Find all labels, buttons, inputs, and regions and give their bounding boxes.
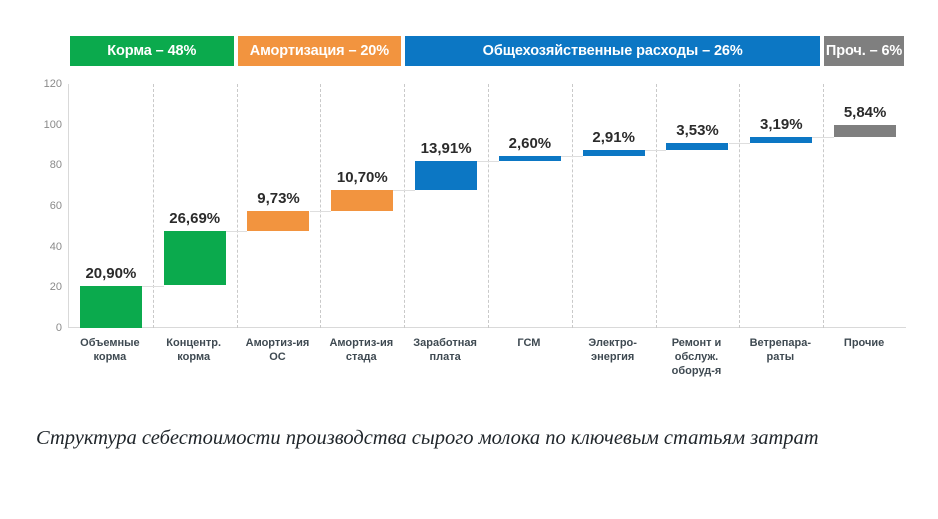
waterfall-bar[interactable] bbox=[164, 231, 226, 285]
figure-caption: Структура себестоимости производства сыр… bbox=[36, 420, 896, 456]
bar-value-label: 10,70% bbox=[337, 169, 388, 186]
waterfall-bar[interactable] bbox=[415, 161, 477, 189]
waterfall-connector bbox=[142, 286, 164, 287]
category-group-chip[interactable]: Амортизация – 20% bbox=[238, 36, 402, 66]
waterfall-bar[interactable] bbox=[834, 125, 896, 137]
y-axis-tick-20: 20 bbox=[50, 281, 62, 293]
waterfall-connector bbox=[645, 150, 667, 151]
y-axis-tick-100: 100 bbox=[44, 119, 62, 131]
x-axis-category-label: Прочие bbox=[815, 336, 913, 350]
waterfall-connector bbox=[393, 190, 415, 191]
bar-value-label: 3,19% bbox=[760, 116, 803, 133]
category-separator bbox=[823, 84, 824, 328]
y-axis-tick-40: 40 bbox=[50, 241, 62, 253]
bar-value-label: 9,73% bbox=[257, 190, 300, 207]
waterfall-connector bbox=[477, 161, 499, 162]
bar-value-label: 2,91% bbox=[592, 129, 635, 146]
category-separator bbox=[572, 84, 573, 328]
y-axis-tick-80: 80 bbox=[50, 159, 62, 171]
bar-value-label: 5,84% bbox=[844, 104, 887, 121]
waterfall-bar[interactable] bbox=[666, 143, 728, 150]
chart-plot-area: 02040608010012020,90%26,69%9,73%10,70%13… bbox=[68, 84, 906, 328]
category-separator bbox=[237, 84, 238, 328]
waterfall-bar[interactable] bbox=[331, 190, 393, 212]
category-separator bbox=[656, 84, 657, 328]
waterfall-bar[interactable] bbox=[247, 211, 309, 231]
y-axis-tick-60: 60 bbox=[50, 200, 62, 212]
y-axis-tick-120: 120 bbox=[44, 78, 62, 90]
bar-value-label: 20,90% bbox=[85, 265, 136, 282]
bar-value-label: 2,60% bbox=[509, 135, 552, 152]
waterfall-connector bbox=[310, 211, 332, 212]
bar-value-label: 13,91% bbox=[421, 140, 472, 157]
waterfall-bar[interactable] bbox=[80, 286, 142, 328]
bar-value-label: 26,69% bbox=[169, 210, 220, 227]
category-separator bbox=[404, 84, 405, 328]
category-group-chip[interactable]: Общехозяйственные расходы – 26% bbox=[405, 36, 820, 66]
category-group-chip[interactable]: Проч. – 6% bbox=[824, 36, 904, 66]
category-separator bbox=[739, 84, 740, 328]
category-separator bbox=[320, 84, 321, 328]
waterfall-connector bbox=[561, 156, 583, 157]
category-separator bbox=[488, 84, 489, 328]
category-header-band: Корма – 48%Амортизация – 20%Общехозяйств… bbox=[0, 36, 938, 66]
waterfall-bar[interactable] bbox=[750, 137, 812, 143]
category-separator bbox=[153, 84, 154, 328]
category-group-chip[interactable]: Корма – 48% bbox=[70, 36, 234, 66]
waterfall-bar[interactable] bbox=[583, 150, 645, 156]
chart-page: Корма – 48%Амортизация – 20%Общехозяйств… bbox=[0, 0, 938, 519]
waterfall-connector bbox=[729, 143, 751, 144]
waterfall-connector bbox=[812, 137, 834, 138]
waterfall-bar[interactable] bbox=[499, 156, 561, 161]
waterfall-connector bbox=[226, 231, 248, 232]
bar-value-label: 3,53% bbox=[676, 122, 719, 139]
y-axis-tick-0: 0 bbox=[56, 322, 62, 334]
